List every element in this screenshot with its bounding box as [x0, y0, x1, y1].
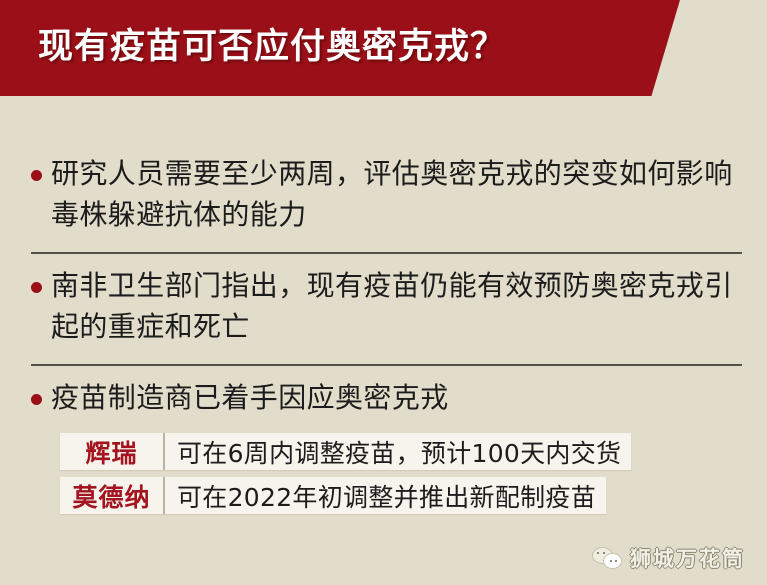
maker-desc-moderna: 可在2022年初调整并推出新配制疫苗 [165, 477, 606, 514]
wechat-account-name: 狮城万花筒 [630, 543, 745, 573]
table-row: 莫德纳 可在2022年初调整并推出新配制疫苗 [60, 477, 606, 514]
wechat-dot-icon [603, 552, 605, 554]
page-title: 现有疫苗可否应付奥密克戎？ [38, 26, 506, 68]
wechat-icon [592, 547, 622, 569]
wechat-dot-icon [597, 552, 599, 554]
maker-name-moderna: 莫德纳 [60, 477, 165, 514]
bullet-text-1: 研究人员需要至少两周，评估奥密克戎的突变如何影响毒株躲避抗体的能力 [51, 154, 743, 236]
divider-1 [31, 252, 742, 254]
content-area: 研究人员需要至少两周，评估奥密克戎的突变如何影响毒株躲避抗体的能力 南非卫生部门… [0, 96, 767, 585]
wechat-dot-icon [610, 560, 612, 562]
footer-attribution: 狮城万花筒 [592, 543, 745, 573]
bullet-text-3: 疫苗制造商已着手因应奥密克戎 [51, 378, 449, 419]
maker-name-pfizer: 辉瑞 [60, 433, 165, 470]
bullet-item-1: 研究人员需要至少两周，评估奥密克戎的突变如何影响毒株躲避抗体的能力 [31, 154, 743, 236]
maker-desc-pfizer: 可在6周内调整疫苗，预计100天内交货 [165, 433, 631, 470]
wechat-bubble-front-icon [603, 553, 622, 569]
wechat-dot-icon [615, 560, 617, 562]
infographic-root: 现有疫苗可否应付奥密克戎？ 研究人员需要至少两周，评估奥密克戎的突变如何影响毒株… [0, 0, 767, 585]
bullet-item-2: 南非卫生部门指出，现有疫苗仍能有效预防奥密克戎引起的重症和死亡 [31, 266, 743, 348]
divider-2 [31, 364, 742, 366]
bullet-item-3: 疫苗制造商已着手因应奥密克戎 [31, 378, 743, 419]
vaccine-maker-table: 辉瑞 可在6周内调整疫苗，预计100天内交货 莫德纳 可在2022年初调整并推出… [60, 433, 631, 521]
table-row: 辉瑞 可在6周内调整疫苗，预计100天内交货 [60, 433, 631, 470]
bullet-dot-icon [31, 394, 42, 405]
bullet-text-2: 南非卫生部门指出，现有疫苗仍能有效预防奥密克戎引起的重症和死亡 [51, 266, 743, 348]
bullet-dot-icon [31, 282, 42, 293]
bullet-dot-icon [31, 170, 42, 181]
